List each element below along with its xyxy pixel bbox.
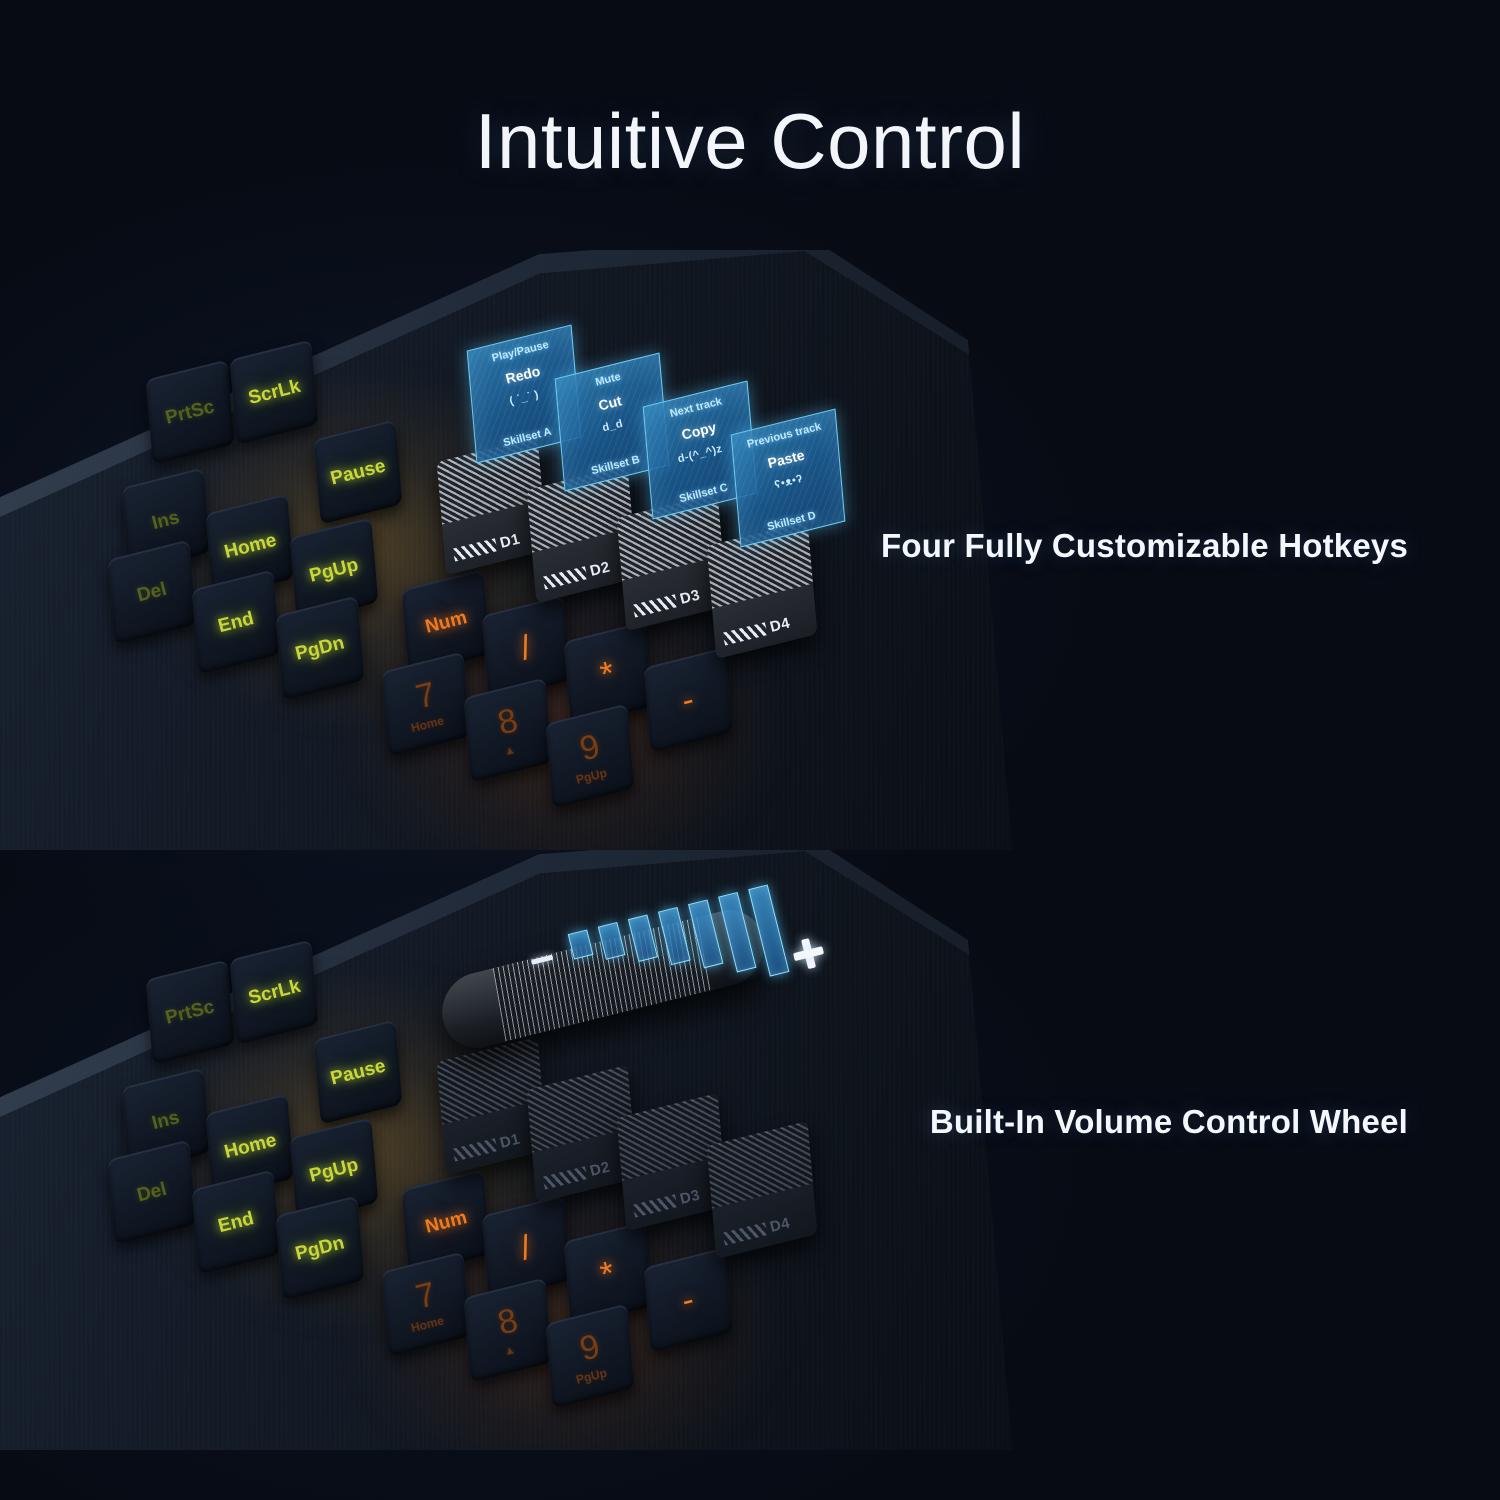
card-d-top: Previous track xyxy=(746,421,822,451)
volume-bar-4 xyxy=(658,907,691,965)
volume-bar-5 xyxy=(688,899,723,968)
page-title: Intuitive Control xyxy=(0,96,1500,187)
card-c-action: Copy xyxy=(679,419,717,443)
macro-slash-icon xyxy=(722,1222,768,1245)
hotkey-callout-group: Play/Pause Redo ( ˙_˙ ) Skillset A Mute … xyxy=(470,338,830,548)
volume-minus-icon xyxy=(531,955,554,965)
volume-wheel-product-photo: PrtSc ScrLk Pause Ins Home PgUp Del End … xyxy=(0,850,1500,1450)
card-c-top: Next track xyxy=(669,395,724,420)
card-a-skillset: Skillset A xyxy=(503,426,554,450)
volume-plus-icon xyxy=(790,935,826,971)
volume-bar-1 xyxy=(568,929,594,959)
macro-slash-icon xyxy=(632,1194,678,1217)
card-b-top: Mute xyxy=(594,371,622,389)
card-a-emoticon: ( ˙_˙ ) xyxy=(508,389,540,408)
card-d-skillset: Skillset D xyxy=(766,510,817,534)
caption-volume-wheel: Built-In Volume Control Wheel xyxy=(930,1103,1408,1141)
card-b-action: Cut xyxy=(597,392,624,413)
macro-slash-icon xyxy=(452,1138,498,1161)
card-d-emoticon: ʕ•ᴥ•ʔ xyxy=(773,473,804,492)
card-b-emoticon: d_d xyxy=(601,418,624,435)
volume-bar-3 xyxy=(628,914,658,962)
card-a-action: Redo xyxy=(503,363,541,387)
card-b-skillset: Skillset B xyxy=(590,454,641,478)
volume-bar-6 xyxy=(718,892,756,973)
macro-slash-icon xyxy=(542,566,588,589)
caption-hotkeys: Four Fully Customizable Hotkeys xyxy=(881,527,1408,565)
card-a-top: Play/Pause xyxy=(491,339,550,365)
macro-slash-icon xyxy=(542,1166,588,1189)
card-c-emoticon: d-(^_^)z xyxy=(677,443,724,466)
macro-slash-icon xyxy=(632,594,678,617)
volume-bar-2 xyxy=(598,922,626,960)
hotkey-card-d[interactable]: Previous track Paste ʕ•ᴥ•ʔ Skillset D xyxy=(731,408,846,547)
card-c-skillset: Skillset C xyxy=(678,482,729,506)
macro-slash-icon xyxy=(722,622,768,645)
card-d-action: Paste xyxy=(766,447,806,472)
